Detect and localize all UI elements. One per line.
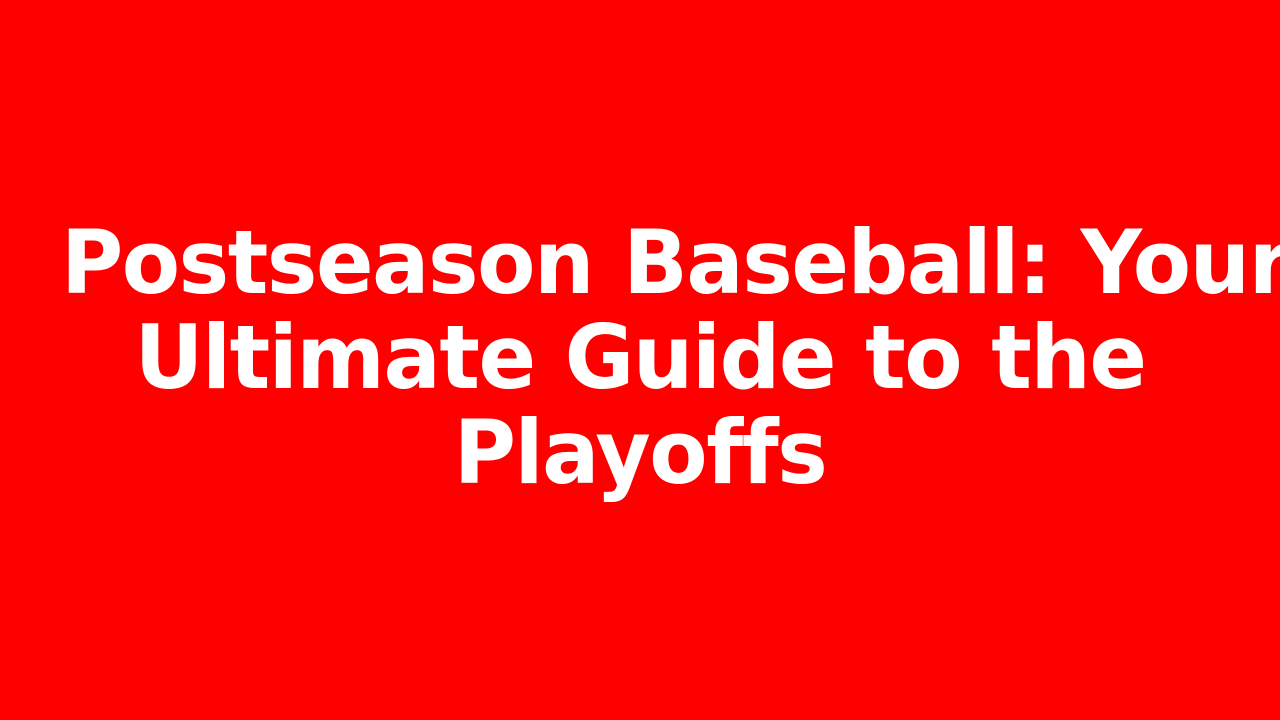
page-title-line-1: Postseason Baseball: Your xyxy=(61,215,1219,310)
headline-block: Postseason Baseball: Your Ultimate Guide… xyxy=(20,215,1260,500)
hero-banner: Postseason Baseball: Your Ultimate Guide… xyxy=(0,0,1280,720)
page-title-line-2: Ultimate Guide to the xyxy=(61,310,1219,405)
page-title-line-3: Playoffs xyxy=(61,405,1219,500)
page-title: Postseason Baseball: Your Ultimate Guide… xyxy=(40,215,1240,500)
